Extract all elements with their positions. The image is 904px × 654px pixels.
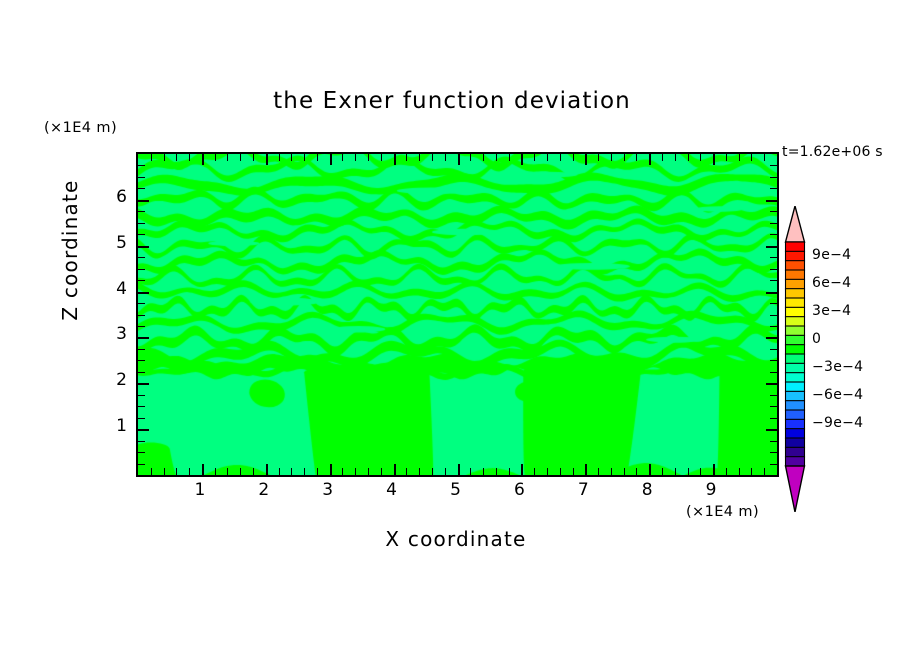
x-axis-minor-tick-top — [662, 154, 663, 161]
y-axis-minor-tick — [138, 372, 145, 373]
x-axis-minor-tick — [611, 468, 612, 475]
y-axis-minor-tick — [138, 211, 145, 212]
y-axis-major-tick-right — [766, 429, 777, 431]
y-axis-minor-tick — [138, 280, 145, 281]
y-axis-major-tick-right — [766, 337, 777, 339]
y-axis-tick-label: 6 — [97, 187, 127, 207]
y-axis-major-tick — [138, 246, 149, 248]
x-axis-major-tick — [521, 464, 523, 475]
x-axis-minor-tick — [573, 468, 574, 475]
x-axis-minor-tick — [624, 468, 625, 475]
y-axis-major-tick — [138, 337, 149, 339]
x-axis-minor-tick — [227, 468, 228, 475]
x-axis-tick-label: 9 — [696, 480, 726, 500]
page-title: the Exner function deviation — [0, 88, 904, 114]
y-axis-minor-tick-right — [770, 211, 777, 212]
y-axis-minor-tick-right — [770, 223, 777, 224]
x-axis-title: X coordinate — [236, 527, 676, 551]
y-axis-minor-tick — [138, 303, 145, 304]
y-axis-tick-label: 2 — [97, 370, 127, 390]
y-axis-minor-tick-right — [770, 418, 777, 419]
y-axis-tick-label: 3 — [97, 324, 127, 344]
y-axis-minor-tick-right — [770, 349, 777, 350]
x-axis-minor-tick-top — [317, 154, 318, 161]
colorbar-tick-label: −3e−4 — [812, 359, 863, 375]
x-axis-minor-tick — [483, 468, 484, 475]
x-axis-tick-label: 1 — [185, 480, 215, 500]
y-axis-major-tick-right — [766, 292, 777, 294]
y-axis-minor-tick — [138, 326, 145, 327]
y-axis-minor-tick — [138, 257, 145, 258]
colorbar-tick-label: 9e−4 — [812, 247, 851, 263]
x-axis-minor-tick-top — [534, 154, 535, 161]
x-axis-major-tick-top — [266, 154, 268, 165]
y-axis-minor-tick-right — [770, 303, 777, 304]
colorbar-tick-label: −6e−4 — [812, 387, 863, 403]
colorbar-band — [786, 354, 805, 364]
x-axis-minor-tick-top — [253, 154, 254, 161]
y-axis-minor-tick-right — [770, 395, 777, 396]
x-axis-minor-tick-top — [227, 154, 228, 161]
x-axis-minor-tick-top — [496, 154, 497, 161]
colorbar-overflow-arrow-top — [786, 206, 805, 242]
x-axis-tick-label: 2 — [249, 480, 279, 500]
x-axis-minor-tick — [406, 468, 407, 475]
x-axis-minor-tick-top — [432, 154, 433, 161]
y-axis-minor-tick-right — [770, 464, 777, 465]
x-axis-major-tick-top — [521, 154, 523, 165]
x-axis-tick-label: 6 — [504, 480, 534, 500]
y-axis-minor-tick — [138, 269, 145, 270]
x-axis-major-tick-top — [458, 154, 460, 165]
y-axis-unit-label: (×1E4 m) — [44, 120, 117, 136]
x-axis-minor-tick-top — [700, 154, 701, 161]
x-axis-tick-label: 8 — [632, 480, 662, 500]
x-axis-minor-tick-top — [406, 154, 407, 161]
x-axis-minor-tick-top — [189, 154, 190, 161]
x-axis-minor-tick-top — [304, 154, 305, 161]
x-axis-minor-tick-top — [355, 154, 356, 161]
y-axis-minor-tick-right — [770, 360, 777, 361]
x-axis-minor-tick — [496, 468, 497, 475]
y-axis-title: Z coordinate — [58, 150, 82, 350]
colorbar-tick-label: 3e−4 — [812, 303, 851, 319]
x-axis-minor-tick — [445, 468, 446, 475]
y-axis-minor-tick-right — [770, 269, 777, 270]
y-axis-major-tick — [138, 200, 149, 202]
colorbar-band — [786, 419, 805, 429]
x-axis-minor-tick — [176, 468, 177, 475]
x-axis-minor-tick — [662, 468, 663, 475]
x-axis-major-tick — [585, 464, 587, 475]
colorbar-tick-label: 0 — [812, 331, 821, 347]
colorbar-band — [786, 251, 805, 261]
x-axis-minor-tick — [534, 468, 535, 475]
colorbar-band — [786, 410, 805, 420]
x-axis-major-tick-top — [202, 154, 204, 165]
x-axis-minor-tick — [598, 468, 599, 475]
y-axis-major-tick — [138, 429, 149, 431]
colorbar-band — [786, 345, 805, 355]
x-axis-minor-tick — [560, 468, 561, 475]
x-axis-minor-tick-top — [279, 154, 280, 161]
y-axis-major-tick-right — [766, 383, 777, 385]
x-axis-minor-tick-top — [419, 154, 420, 161]
y-axis-minor-tick-right — [770, 177, 777, 178]
colorbar-band — [786, 401, 805, 411]
y-axis-major-tick-right — [766, 200, 777, 202]
colorbar-band — [786, 317, 805, 327]
colorbar-band — [786, 382, 805, 392]
x-axis-minor-tick-top — [483, 154, 484, 161]
x-axis-minor-tick-top — [509, 154, 510, 161]
x-axis-minor-tick-top — [151, 154, 152, 161]
y-axis-minor-tick — [138, 406, 145, 407]
x-axis-minor-tick-top — [342, 154, 343, 161]
x-axis-minor-tick-top — [624, 154, 625, 161]
x-axis-major-tick — [713, 464, 715, 475]
x-axis-minor-tick — [509, 468, 510, 475]
y-axis-tick-label: 1 — [97, 416, 127, 436]
x-axis-minor-tick — [164, 468, 165, 475]
y-axis-minor-tick-right — [770, 326, 777, 327]
colorbar-gradient — [784, 206, 806, 512]
y-axis-minor-tick — [138, 441, 145, 442]
x-axis-minor-tick-top — [611, 154, 612, 161]
y-axis-tick-label: 5 — [97, 233, 127, 253]
y-axis-minor-tick-right — [770, 315, 777, 316]
x-axis-minor-tick — [240, 468, 241, 475]
y-axis-minor-tick-right — [770, 234, 777, 235]
colorbar-band — [786, 326, 805, 336]
y-axis-tick-label: 4 — [97, 279, 127, 299]
x-axis-major-tick — [266, 464, 268, 475]
colorbar-band — [786, 335, 805, 345]
colorbar-band — [786, 457, 805, 467]
y-axis-minor-tick — [138, 165, 145, 166]
x-axis-minor-tick-top — [445, 154, 446, 161]
x-axis-unit-label: (×1E4 m) — [686, 504, 759, 520]
y-axis-minor-tick-right — [770, 165, 777, 166]
colorbar-band — [786, 298, 805, 308]
y-axis-minor-tick — [138, 452, 145, 453]
x-axis-minor-tick — [636, 468, 637, 475]
x-axis-minor-tick — [739, 468, 740, 475]
x-axis-minor-tick — [189, 468, 190, 475]
x-axis-minor-tick-top — [215, 154, 216, 161]
colorbar-band — [786, 307, 805, 317]
x-axis-major-tick-top — [649, 154, 651, 165]
x-axis-minor-tick — [675, 468, 676, 475]
x-axis-minor-tick-top — [764, 154, 765, 161]
x-axis-minor-tick-top — [598, 154, 599, 161]
x-axis-minor-tick — [432, 468, 433, 475]
y-axis-minor-tick — [138, 360, 145, 361]
y-axis-minor-tick-right — [770, 441, 777, 442]
colorbar-band — [786, 261, 805, 271]
colorbar-overflow-arrow-bottom — [786, 466, 805, 512]
colorbar-band — [786, 270, 805, 280]
colorbar-band — [786, 363, 805, 373]
y-axis-major-tick-right — [766, 246, 777, 248]
x-axis-minor-tick — [215, 468, 216, 475]
x-axis-minor-tick — [419, 468, 420, 475]
x-axis-major-tick — [458, 464, 460, 475]
colorbar-band — [786, 447, 805, 457]
colorbar-band — [786, 429, 805, 439]
x-axis-minor-tick — [291, 468, 292, 475]
colorbar-tick-label: −9e−4 — [812, 415, 863, 431]
y-axis-minor-tick-right — [770, 452, 777, 453]
colorbar-band — [786, 289, 805, 299]
y-axis-minor-tick-right — [770, 188, 777, 189]
y-axis-minor-tick — [138, 188, 145, 189]
colorbar-band — [786, 279, 805, 289]
colorbar — [784, 206, 806, 512]
x-axis-minor-tick-top — [164, 154, 165, 161]
x-axis-minor-tick-top — [291, 154, 292, 161]
x-axis-minor-tick-top — [739, 154, 740, 161]
y-axis-major-tick — [138, 292, 149, 294]
x-axis-major-tick — [202, 464, 204, 475]
x-axis-minor-tick — [764, 468, 765, 475]
x-axis-major-tick-top — [713, 154, 715, 165]
x-axis-minor-tick-top — [726, 154, 727, 161]
x-axis-minor-tick-top — [675, 154, 676, 161]
x-axis-major-tick-top — [330, 154, 332, 165]
y-axis-minor-tick-right — [770, 257, 777, 258]
y-axis-minor-tick — [138, 418, 145, 419]
x-axis-minor-tick — [470, 468, 471, 475]
x-axis-minor-tick — [342, 468, 343, 475]
y-axis-minor-tick — [138, 349, 145, 350]
contour-plot-area — [136, 152, 779, 477]
x-axis-tick-label: 3 — [313, 480, 343, 500]
y-axis-minor-tick-right — [770, 406, 777, 407]
y-axis-minor-tick-right — [770, 280, 777, 281]
x-axis-minor-tick-top — [636, 154, 637, 161]
x-axis-minor-tick-top — [573, 154, 574, 161]
time-stamp-annotation: t=1.62e+06 s — [782, 144, 883, 160]
x-axis-minor-tick-top — [560, 154, 561, 161]
colorbar-band — [786, 391, 805, 401]
y-axis-minor-tick — [138, 395, 145, 396]
x-axis-tick-label: 5 — [441, 480, 471, 500]
y-axis-minor-tick — [138, 315, 145, 316]
y-axis-minor-tick-right — [770, 372, 777, 373]
x-axis-minor-tick — [381, 468, 382, 475]
x-axis-tick-label: 4 — [377, 480, 407, 500]
x-axis-major-tick — [330, 464, 332, 475]
colorbar-band — [786, 242, 805, 252]
x-axis-minor-tick-top — [368, 154, 369, 161]
y-axis-minor-tick — [138, 177, 145, 178]
x-axis-major-tick-top — [394, 154, 396, 165]
x-axis-minor-tick — [253, 468, 254, 475]
x-axis-minor-tick-top — [751, 154, 752, 161]
x-axis-major-tick — [394, 464, 396, 475]
x-axis-minor-tick-top — [470, 154, 471, 161]
y-axis-minor-tick — [138, 234, 145, 235]
colorbar-band — [786, 373, 805, 383]
colorbar-band — [786, 438, 805, 448]
x-axis-minor-tick — [751, 468, 752, 475]
x-axis-tick-label: 7 — [568, 480, 598, 500]
x-axis-minor-tick-top — [381, 154, 382, 161]
x-axis-minor-tick — [317, 468, 318, 475]
x-axis-minor-tick-top — [176, 154, 177, 161]
x-axis-minor-tick — [688, 468, 689, 475]
x-axis-major-tick-top — [585, 154, 587, 165]
y-axis-major-tick — [138, 383, 149, 385]
contour-field — [138, 154, 777, 475]
x-axis-minor-tick-top — [240, 154, 241, 161]
x-axis-minor-tick — [547, 468, 548, 475]
x-axis-minor-tick — [279, 468, 280, 475]
x-axis-minor-tick — [726, 468, 727, 475]
y-axis-minor-tick — [138, 223, 145, 224]
y-axis-minor-tick — [138, 464, 145, 465]
x-axis-minor-tick — [700, 468, 701, 475]
x-axis-minor-tick — [304, 468, 305, 475]
x-axis-minor-tick-top — [547, 154, 548, 161]
x-axis-minor-tick-top — [688, 154, 689, 161]
x-axis-major-tick — [649, 464, 651, 475]
x-axis-minor-tick — [368, 468, 369, 475]
x-axis-minor-tick — [355, 468, 356, 475]
colorbar-tick-label: 6e−4 — [812, 275, 851, 291]
x-axis-minor-tick — [151, 468, 152, 475]
